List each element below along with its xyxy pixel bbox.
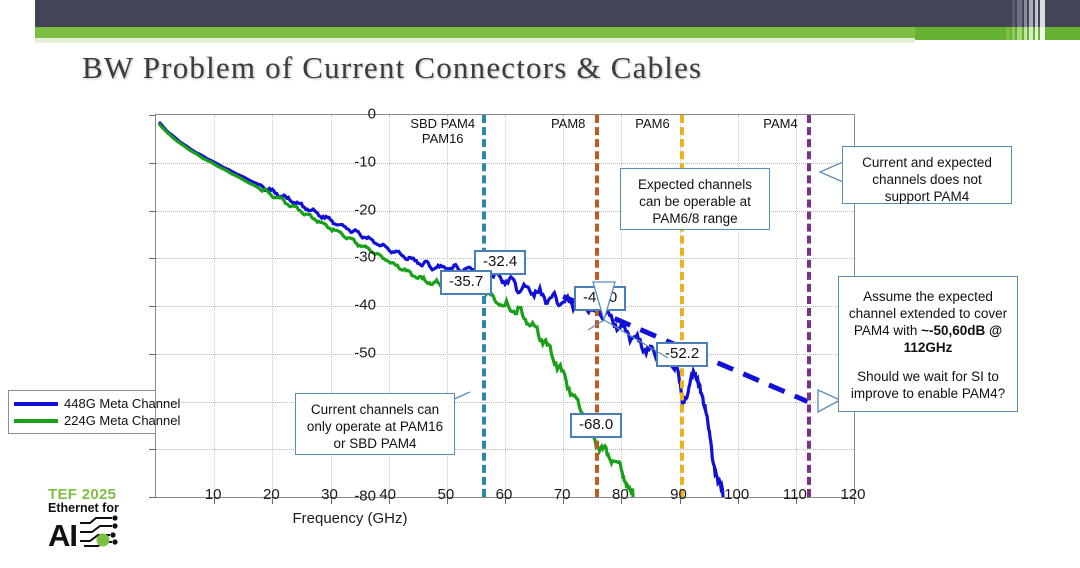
x-tick-label: 100 [724, 486, 749, 503]
y-axis-title: Magnitude Response (dB) [0, 213, 1, 387]
legend-swatch-448g [14, 402, 58, 406]
banner-stripe [1035, 0, 1038, 46]
x-tick-label: 50 [437, 486, 454, 503]
logo-ai-text: AI [48, 521, 77, 551]
y-tick [149, 497, 156, 498]
x-tick-label: 20 [263, 486, 280, 503]
y-tick-label: -20 [316, 201, 376, 218]
legend-item: 448G Meta Channel [14, 395, 150, 412]
banner-green-bar-right [915, 27, 1080, 40]
banner-stripe [1006, 0, 1010, 46]
x-tick-label: 120 [840, 486, 865, 503]
tef-logo: TEF 2025 Ethernet for AI [48, 487, 140, 559]
x-tick-label: 40 [379, 486, 396, 503]
x-tick-label: 90 [670, 486, 687, 503]
slide-top-banner [0, 0, 1080, 46]
note-current-channels: Current channels can only operate at PAM… [295, 393, 455, 455]
logo-tef-2025: TEF 2025 [48, 487, 140, 502]
value-label-neg40p0: -40.0 [574, 286, 626, 311]
note-expected-channels: Expected channels can be operable at PAM… [620, 168, 770, 230]
x-tick-label: 30 [321, 486, 338, 503]
value-label-neg68p0: -68.0 [570, 413, 622, 438]
marker-label-pam4: PAM4 [763, 116, 797, 131]
y-tick [149, 449, 156, 450]
legend-item: 224G Meta Channel [14, 412, 150, 429]
y-tick-label: 0 [316, 106, 376, 123]
banner-stripe [1029, 0, 1033, 46]
y-tick [149, 306, 156, 307]
logo-ethernet-for: Ethernet for [48, 502, 140, 515]
x-tick-label: 60 [496, 486, 513, 503]
y-tick-label: -10 [316, 153, 376, 170]
y-tick [149, 258, 156, 259]
x-tick-label: 70 [554, 486, 571, 503]
banner-green-bar-left [35, 27, 915, 38]
x-tick-label: 110 [783, 486, 807, 503]
note-no-pam4-support: Current and expected channels does not s… [842, 146, 1012, 204]
marker-label-sbd-pam4: SBD PAM4PAM16 [410, 116, 475, 146]
banner-green-fade [35, 38, 915, 43]
y-tick-label: -50 [316, 344, 376, 361]
value-label-neg35p7: -35.7 [440, 270, 492, 295]
page-title: BW Problem of Current Connectors & Cable… [82, 50, 982, 92]
y-tick [149, 163, 156, 164]
marker-label-pam6: PAM6 [635, 116, 669, 131]
x-axis-title: Frequency (GHz) [292, 510, 407, 527]
assume-line2: ~-50,60dB @ 112GHz [904, 323, 1003, 355]
x-tick-label: 10 [205, 486, 222, 503]
banner-stripe [1017, 0, 1022, 46]
circuit-trace-icon [78, 515, 124, 549]
banner-stripe [1040, 0, 1045, 46]
y-tick-label: -30 [316, 249, 376, 266]
y-tick [149, 354, 156, 355]
y-tick [149, 115, 156, 116]
legend-label-448g: 448G Meta Channel [64, 396, 180, 411]
banner-stripe [1012, 0, 1015, 46]
legend-label-224g: 224G Meta Channel [64, 413, 180, 428]
marker-line-pam4 [807, 115, 811, 497]
y-tick-label: -40 [316, 297, 376, 314]
banner-stripe [1024, 0, 1027, 46]
chart-figure: Magnitude Response (dB) Frequency (GHz) … [0, 100, 1080, 530]
banner-navy-bar [35, 0, 1080, 27]
note-assume-extended: Assume the expected channel extended to … [838, 276, 1018, 412]
chart-legend: 448G Meta Channel 224G Meta Channel [8, 390, 156, 434]
y-tick [149, 211, 156, 212]
marker-label-pam8: PAM8 [551, 116, 585, 131]
x-tick-label: 80 [612, 486, 629, 503]
marker-line-sbd-pam4 [482, 115, 486, 497]
assume-line3: Should we wait for SI to improve to enab… [851, 369, 1005, 401]
value-label-neg52p2: -52.2 [656, 342, 708, 367]
legend-swatch-224g [14, 419, 58, 423]
